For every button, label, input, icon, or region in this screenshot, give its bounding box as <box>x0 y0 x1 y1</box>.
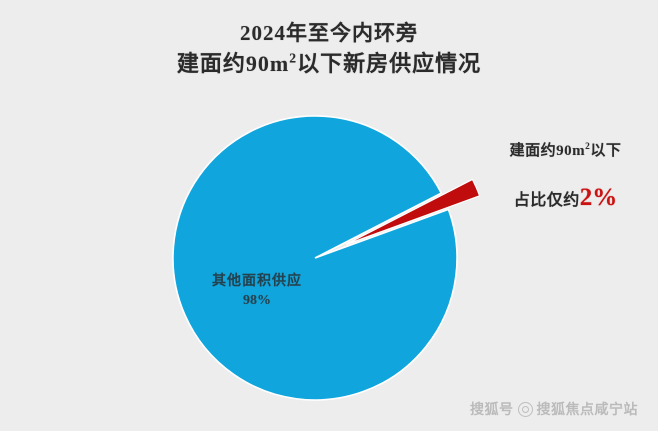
callout-line1: 建面约90m2以下 <box>478 140 653 162</box>
callout-annotation: 建面约90m2以下 占比仅约2% <box>478 140 653 213</box>
pie-slice-label-value: 98% <box>182 291 332 311</box>
callout-line1-prefix: 建面约90m <box>510 143 586 159</box>
chart-title-line2: 建面约90m2以下新房供应情况 <box>0 48 658 80</box>
chart-title-line2-suffix: 以下新房供应情况 <box>297 51 481 76</box>
chart-title-line1: 2024年至今内环旁 <box>0 18 658 48</box>
pie-slice-label-name: 其他面积供应 <box>182 272 332 291</box>
pie-slice-label-other-area: 其他面积供应 98% <box>182 272 332 311</box>
pie-slice-other-area[interactable] <box>173 116 457 400</box>
chart-title-line2-prefix: 建面约90m <box>177 51 289 76</box>
at-circle-icon <box>518 402 533 417</box>
callout-line2: 占比仅约2% <box>478 186 653 213</box>
chart-title: 2024年至今内环旁 建面约90m2以下新房供应情况 <box>0 18 658 80</box>
watermark-suffix: 搜狐焦点咸宁站 <box>537 399 639 419</box>
callout-line1-suffix: 以下 <box>590 143 621 159</box>
callout-highlight-value: 2% <box>580 184 618 211</box>
pie-slices <box>173 116 480 400</box>
chart-title-superscript: 2 <box>289 51 297 66</box>
watermark: 搜狐号 搜狐焦点咸宁站 <box>470 399 638 419</box>
watermark-prefix: 搜狐号 <box>470 399 514 419</box>
callout-line2-prefix: 占比仅约 <box>514 192 580 209</box>
